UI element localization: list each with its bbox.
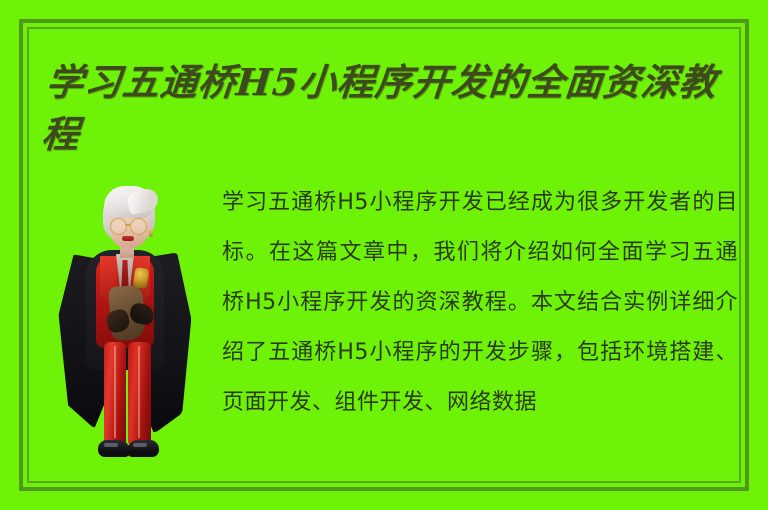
shoe-right (127, 440, 159, 457)
shoe-left (98, 440, 130, 457)
trouser-crease-right (138, 346, 140, 438)
glasses-lens-right (130, 218, 147, 235)
glasses-bridge (125, 224, 131, 226)
earring (149, 228, 153, 237)
3d-character-illustration (52, 182, 200, 482)
glasses-lens-left (110, 218, 127, 235)
lips (122, 236, 134, 241)
page-title: 学习五通桥H5小程序开发的全面资深教程 (39, 56, 748, 160)
article-card: 学习五通桥H5小程序开发的全面资深教程 学习五通桥H5小程序开发已经成为很多开发… (0, 0, 768, 510)
article-body-text: 学习五通桥H5小程序开发已经成为很多开发者的目标。在这篇文章中，我们将介绍如何全… (222, 178, 738, 478)
trouser-crease-left (114, 346, 116, 438)
